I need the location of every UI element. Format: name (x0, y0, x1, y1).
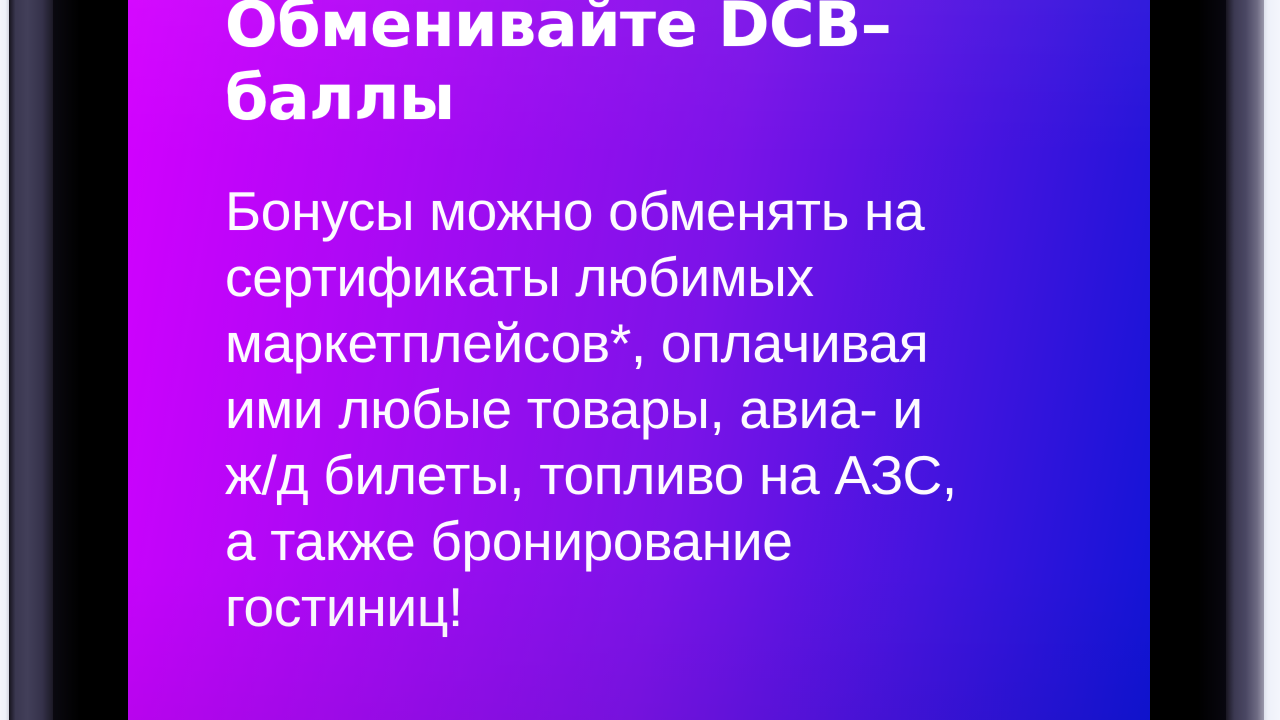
promo-slide: Обменивайте DCB– баллы Бонусы можно обме… (225, 0, 1112, 640)
screenshot-root: Обменивайте DCB– баллы Бонусы можно обме… (0, 0, 1280, 720)
promo-body-text: Бонусы можно обменять на сертификаты люб… (225, 134, 1112, 640)
device-body-right-rail (1226, 0, 1264, 720)
device-body-left-rail (9, 0, 55, 720)
promo-title: Обменивайте DCB– баллы (225, 0, 1112, 134)
device-bezel-right (1150, 0, 1230, 720)
phone-screen[interactable]: Обменивайте DCB– баллы Бонусы можно обме… (128, 0, 1152, 720)
device-bezel-left (53, 0, 130, 720)
